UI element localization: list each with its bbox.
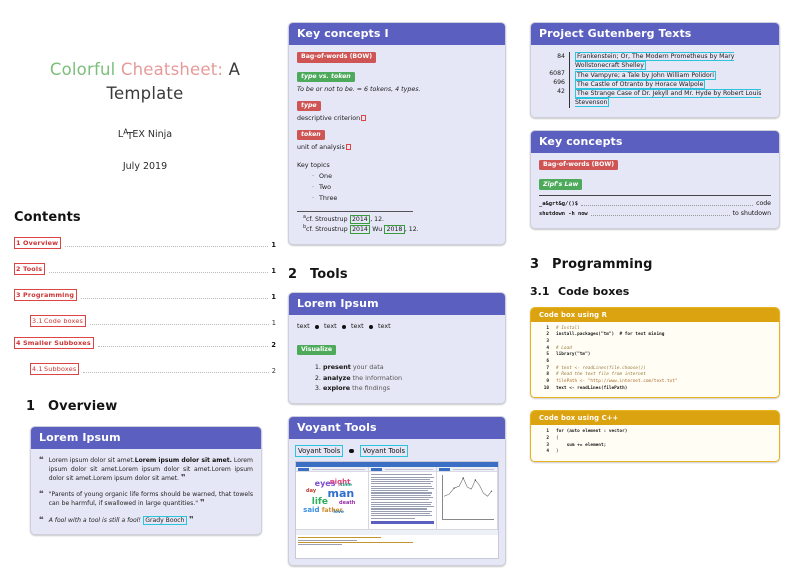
chart-line (443, 476, 494, 498)
bullet-dot-icon (349, 449, 353, 453)
divider (539, 195, 771, 196)
cloud-word: said (303, 507, 319, 514)
quote-text: A fool with a tool is still a fool! Grad… (49, 516, 253, 525)
section-programming-heading: 3Programming (530, 257, 780, 272)
toc-leader (49, 272, 268, 273)
bullet-label: text (378, 322, 391, 332)
box-title: Code box using R (531, 308, 779, 322)
toc-page: 2 (272, 367, 276, 375)
toc-link-smaller-subboxes[interactable]: 4Smaller Subboxes (14, 337, 94, 349)
list-item: One (319, 172, 497, 182)
contents-heading: Contents (14, 210, 276, 225)
pane-header-line (312, 469, 365, 470)
box-body: Bag-of-words (BOW) type vs. token To be … (289, 45, 505, 244)
quote-text: Lorem ipsum dolor sit amet.Lorem ipsum d… (49, 456, 253, 483)
box-title: Code box using C++ (531, 411, 779, 425)
citation-link[interactable]: 2018 (384, 225, 405, 234)
title-word-colorful: Colorful (50, 60, 116, 79)
gutenberg-titles: Frankenstein; Or, The Modern Prometheus … (575, 52, 771, 108)
gutenberg-title-link[interactable]: The Strange Case of Dr. Jekyll and Mr. H… (575, 89, 761, 107)
key-topics-label: Key topics (297, 161, 497, 171)
citation-link[interactable]: 2014 (350, 225, 371, 234)
toc-leader (98, 346, 269, 347)
toc-page: 2 (271, 341, 276, 349)
project-gutenberg-box: Project Gutenberg Texts 84 6087 696 42 F… (530, 22, 780, 118)
code-desc-row: shutdown -h now to shutdown (539, 209, 771, 218)
quote-close-icon: ❞ (200, 498, 205, 507)
key-concepts-1-box: Key concepts I Bag-of-words (BOW) type v… (288, 22, 506, 245)
list-item: Two (319, 183, 497, 193)
gutenberg-id: 6087 (539, 69, 565, 78)
box-body: text text text text Visualize present yo… (289, 315, 505, 403)
toc-row: 3.1Code boxes 1 (30, 315, 276, 327)
trends-chart (437, 472, 497, 526)
document-author: LATEX Ninja (14, 128, 276, 142)
tag-type-vs-token: type vs. token (297, 72, 355, 83)
line-number: 2 (537, 332, 549, 339)
line-number: 3 (537, 339, 549, 346)
reader-text-lines (369, 472, 437, 523)
quote-item: ❝ "Parents of young organic life forms s… (39, 490, 253, 508)
key-concepts-2-box: Key concepts Bag-of-words (BOW) Zipf's L… (530, 130, 780, 229)
tag-visualize: Visualize (297, 345, 336, 356)
toc-link-tools[interactable]: 2Tools (14, 263, 45, 275)
subsection-code-boxes-heading: 3.1Code boxes (530, 285, 780, 298)
box-body: 84 6087 696 42 Frankenstein; Or, The Mod… (531, 45, 779, 117)
bullet-label: text (297, 322, 310, 332)
trends-chart-pane (437, 467, 498, 529)
title-word-cheatsheet: Cheatsheet: (121, 60, 223, 79)
quote-open-icon: ❝ (39, 516, 44, 525)
toc-row: 2Tools 1 (14, 263, 276, 275)
section-tools-heading: 2Tools (288, 267, 506, 282)
gutenberg-ids: 84 6087 696 42 (539, 52, 565, 108)
tag-bag-of-words: Bag-of-words (BOW) (539, 160, 618, 171)
chart-x-axis (442, 519, 494, 520)
quote-source[interactable]: Grady Booch (143, 516, 187, 525)
table-of-contents: 1Overview 1 2Tools 1 3Programming 1 3.1C… (14, 237, 276, 375)
code-line: text <- readLines(filePath) (556, 386, 627, 393)
wordcloud-pane: eyes night man life said father death da… (296, 467, 369, 529)
key-topics-list: One Two Three (297, 172, 497, 204)
toc-leader (90, 324, 269, 325)
list-item: explore the findings (323, 383, 497, 394)
bullet-dot-icon (315, 325, 319, 329)
code-snippet: shutdown -h now (539, 210, 588, 218)
dot-leader (591, 215, 730, 216)
gutenberg-divider (569, 52, 570, 108)
box-title: Voyant Tools (289, 417, 505, 439)
line-number: 4 (537, 449, 549, 456)
pane-header-line (385, 469, 434, 470)
voyant-screenshot: eyes night man life said father death da… (295, 461, 499, 559)
pane-badge-icon (439, 468, 450, 471)
footnote-a: acf. Stroustrup 2014, 12. (303, 215, 497, 225)
quote-item: ❝ Lorem ipsum dolor sit amet.Lorem ipsum… (39, 456, 253, 483)
quote-open-icon: ❝ (39, 456, 44, 483)
gutenberg-id: 696 (539, 78, 565, 87)
toc-page: 1 (271, 267, 276, 275)
reader-pane (369, 467, 438, 529)
line-number: 9 (537, 379, 549, 386)
type-token-example: To be or not to be. = 6 tokens, 4 types. (297, 85, 497, 94)
quote-close-icon: ❞ (189, 515, 194, 524)
definition-type: descriptive criterion (297, 114, 497, 123)
code-line: install.packages("tm") # for text mining (556, 332, 664, 339)
quote-text: "Parents of young organic life forms sho… (49, 490, 253, 508)
word-cloud: eyes night man life said father death da… (296, 472, 368, 526)
latex-logo: LATEX Ninja (118, 129, 172, 140)
box-title: Lorem Ipsum (31, 427, 261, 449)
table-row: The Vampyre; a Tale by John William Poli… (575, 71, 771, 80)
footnote-ref-icon[interactable] (346, 144, 351, 151)
bottom-text-lines (296, 535, 498, 545)
toc-row: 3Programming 1 (14, 289, 276, 301)
toc-link-overview[interactable]: 1Overview (14, 237, 61, 249)
code-line: sum += element; (556, 443, 606, 450)
lorem-ipsum-overview-box: Lorem Ipsum ❝ Lorem ipsum dolor sit amet… (30, 426, 262, 535)
toc-leader (65, 246, 268, 247)
tag-zipfs-law: Zipf's Law (539, 179, 582, 190)
table-row: Frankenstein; Or, The Modern Prometheus … (575, 52, 771, 71)
bullet-dot-icon (342, 325, 346, 329)
bullet-label: text (324, 322, 337, 332)
cloud-word: time (340, 484, 351, 489)
toc-link-subboxes[interactable]: 4.1Subboxes (30, 363, 79, 375)
right-column: Project Gutenberg Texts 84 6087 696 42 F… (530, 0, 780, 474)
line-number: 5 (537, 352, 549, 359)
line-number: 10 (537, 386, 549, 393)
citation-link[interactable]: 2014 (350, 215, 371, 224)
toc-page: 1 (271, 241, 276, 249)
code-box-cpp: Code box using C++ 1for (auto element : … (530, 410, 780, 462)
tag-token: token (297, 130, 325, 141)
toc-row: 4Smaller Subboxes 2 (14, 337, 276, 349)
code-desc-row: _a&grt&g/()$ code (539, 199, 771, 208)
steps-list: present your data analyze the informatio… (297, 362, 497, 394)
code-content-cpp[interactable]: 1for (auto element : vector) 2{ 3 sum +=… (531, 425, 779, 461)
gutenberg-title-link[interactable]: Frankenstein; Or, The Modern Prometheus … (575, 52, 734, 70)
tag-type: type (297, 101, 321, 112)
left-column: Colorful Cheatsheet: A Template LATEX Ni… (14, 0, 276, 547)
voyant-caption-left[interactable]: Voyant Tools (295, 445, 343, 457)
box-title: Lorem Ipsum (289, 293, 505, 315)
code-description: to shutdown (733, 209, 771, 218)
pane-badge-icon (371, 468, 382, 471)
cheatsheet-page: Colorful Cheatsheet: A Template LATEX Ni… (0, 0, 794, 562)
line-number: 6 (537, 359, 549, 366)
section-overview-heading: 1Overview (26, 399, 276, 414)
code-box-r: Code box using R 1# Install 2install.pac… (530, 307, 780, 399)
toc-leader (81, 298, 268, 299)
pane-header-line (453, 469, 494, 470)
footnote-ref-icon[interactable] (361, 115, 366, 122)
bullet-label: text (351, 322, 364, 332)
toc-row: 1Overview 1 (14, 237, 276, 249)
list-item: present your data (323, 362, 497, 373)
footnote-rule (297, 211, 413, 212)
box-body: ❝ Lorem ipsum dolor sit amet.Lorem ipsum… (31, 449, 261, 534)
code-content-r[interactable]: 1# Install 2install.packages("tm") # for… (531, 322, 779, 398)
code-line: for (auto element : vector) (556, 429, 627, 436)
box-title: Key concepts (531, 131, 779, 153)
box-title: Key concepts I (289, 23, 505, 45)
toc-link-code-boxes[interactable]: 3.1Code boxes (30, 315, 86, 327)
line-number: 2 (537, 436, 549, 443)
list-item: Three (319, 194, 497, 204)
code-line: filePath <- "http://www.internet.com/tex… (556, 379, 678, 386)
code-snippet: _a&grt&g/()$ (539, 200, 578, 208)
definition-token: unit of analysis (297, 143, 497, 152)
gutenberg-table: 84 6087 696 42 Frankenstein; Or, The Mod… (539, 52, 771, 108)
cloud-word: death (339, 501, 355, 506)
screenshot-bottom-panel (296, 529, 498, 559)
toc-page: 1 (272, 319, 276, 327)
cloud-word: man (328, 488, 355, 499)
voyant-tools-box: Voyant Tools Voyant Tools Voyant Tools e… (288, 416, 506, 566)
code-line: { (556, 436, 559, 443)
quote-item: ❝ A fool with a tool is still a fool! Gr… (39, 516, 253, 525)
dot-leader (581, 205, 753, 206)
screenshot-panes: eyes night man life said father death da… (296, 467, 498, 529)
quote-open-icon: ❝ (39, 490, 44, 508)
gutenberg-id: 42 (539, 87, 565, 96)
document-title: Colorful Cheatsheet: A Template (14, 58, 276, 106)
box-body: Bag-of-words (BOW) Zipf's Law _a&grt&g/(… (531, 153, 779, 228)
list-item: analyze the information (323, 373, 497, 384)
gutenberg-id: 84 (539, 52, 565, 61)
code-line: } (556, 449, 559, 456)
tag-bag-of-words: Bag-of-words (BOW) (297, 52, 376, 63)
box-body: Voyant Tools Voyant Tools eyes night man (289, 439, 505, 565)
footnote-b: bcf. Stroustrup 2014 Wu 2018, 12. (303, 225, 497, 235)
cloud-word: love (333, 511, 344, 516)
table-row: The Strange Case of Dr. Jekyll and Mr. H… (575, 89, 771, 108)
toc-leader (83, 372, 268, 373)
lorem-ipsum-tools-box: Lorem Ipsum text text text text Visualiz… (288, 292, 506, 404)
code-description: code (756, 199, 771, 208)
middle-column: Key concepts I Bag-of-words (BOW) type v… (288, 0, 506, 578)
bullet-row: text text text text (297, 322, 497, 332)
code-line: library("tm") (556, 352, 590, 359)
bullet-dot-icon (369, 325, 373, 329)
cloud-word: day (306, 489, 316, 494)
quote-close-icon: ❞ (181, 473, 186, 482)
gutenberg-title-link[interactable]: The Castle of Otranto by Horace Walpole (575, 80, 705, 89)
voyant-caption-row: Voyant Tools Voyant Tools (295, 445, 499, 457)
pane-badge-icon (298, 468, 309, 471)
gutenberg-title-link[interactable]: The Vampyre; a Tale by John William Poli… (575, 71, 716, 80)
toc-row: 4.1Subboxes 2 (30, 363, 276, 375)
table-row: The Castle of Otranto by Horace Walpole (575, 80, 771, 89)
box-title: Project Gutenberg Texts (531, 23, 779, 45)
toc-page: 1 (271, 293, 276, 301)
toc-link-programming[interactable]: 3Programming (14, 289, 77, 301)
document-date: July 2019 (14, 161, 276, 172)
voyant-caption-right[interactable]: Voyant Tools (360, 445, 408, 457)
